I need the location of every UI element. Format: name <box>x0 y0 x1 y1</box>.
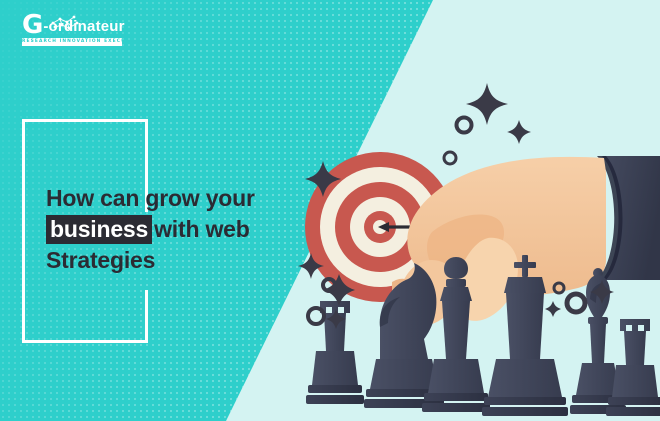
chess-piece-queen <box>422 257 490 412</box>
frame-edge-bottom <box>22 340 148 343</box>
brand-logo[interactable]: G -ordinateur RESEARCH INNOVATION EXECUT… <box>22 12 126 46</box>
headline-line-2-rest: with web <box>154 216 250 242</box>
banner-canvas: G -ordinateur RESEARCH INNOVATION EXECUT… <box>0 0 660 421</box>
headline-line-3: Strategies <box>46 247 155 273</box>
frame-edge-right-lower <box>145 290 148 343</box>
headline-highlight: business <box>46 215 152 244</box>
headline-line-1: How can grow your <box>46 185 255 211</box>
frame-edge-top <box>22 119 148 122</box>
logo-letter-g: G <box>22 14 42 36</box>
headline: How can grow your businesswith web Strat… <box>46 183 314 276</box>
logo-tagline: RESEARCH INNOVATION EXECUTION <box>22 38 122 46</box>
chess-piece-rook-left <box>306 301 364 404</box>
chess-set <box>296 255 660 421</box>
chess-piece-king <box>482 255 568 416</box>
frame-edge-left <box>22 119 25 343</box>
circuit-network-icon <box>50 14 84 31</box>
